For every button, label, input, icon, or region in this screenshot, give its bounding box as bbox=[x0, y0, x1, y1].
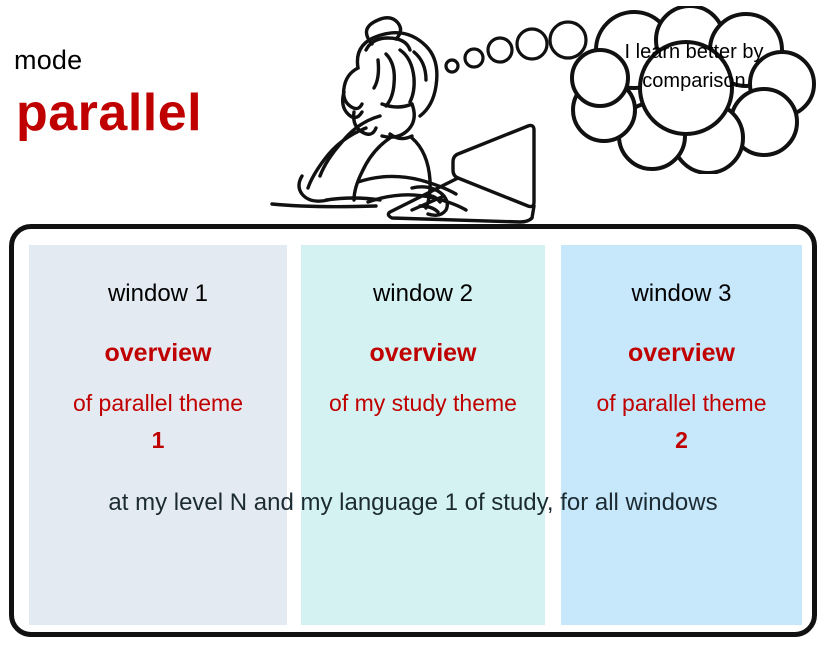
window-3-title: window 3 bbox=[561, 280, 802, 308]
window-3-overview-label: overview bbox=[561, 339, 802, 368]
window-panel-3[interactable]: window 3 overview of parallel theme 2 bbox=[561, 245, 802, 625]
mode-value: parallel bbox=[16, 83, 202, 143]
thought-bubble-text: I learn better by comparison bbox=[596, 38, 792, 96]
window-2-overview-label: overview bbox=[301, 339, 545, 368]
window-1-detail: of parallel theme 1 bbox=[29, 385, 287, 459]
window-3-detail-emph: 2 bbox=[675, 427, 688, 453]
window-1-detail-emph: 1 bbox=[152, 427, 165, 453]
header-area: mode parallel bbox=[0, 0, 828, 224]
window-1-detail-prefix: of parallel theme bbox=[73, 390, 243, 416]
window-panel-1[interactable]: window 1 overview of parallel theme 1 bbox=[29, 245, 287, 625]
shared-settings-note: at my level N and my language 1 of study… bbox=[9, 484, 817, 521]
window-3-detail-prefix: of parallel theme bbox=[596, 390, 766, 416]
window-2-detail-prefix: of my study theme bbox=[329, 390, 517, 416]
windows-container: window 1 overview of parallel theme 1 wi… bbox=[9, 224, 817, 637]
window-2-detail: of my study theme bbox=[301, 385, 545, 422]
window-panel-2[interactable]: window 2 overview of my study theme bbox=[301, 245, 545, 625]
window-1-overview-label: overview bbox=[29, 339, 287, 368]
mode-label: mode bbox=[14, 45, 82, 76]
window-1-title: window 1 bbox=[29, 280, 287, 308]
window-2-title: window 2 bbox=[301, 280, 545, 308]
window-3-detail: of parallel theme 2 bbox=[561, 385, 802, 459]
